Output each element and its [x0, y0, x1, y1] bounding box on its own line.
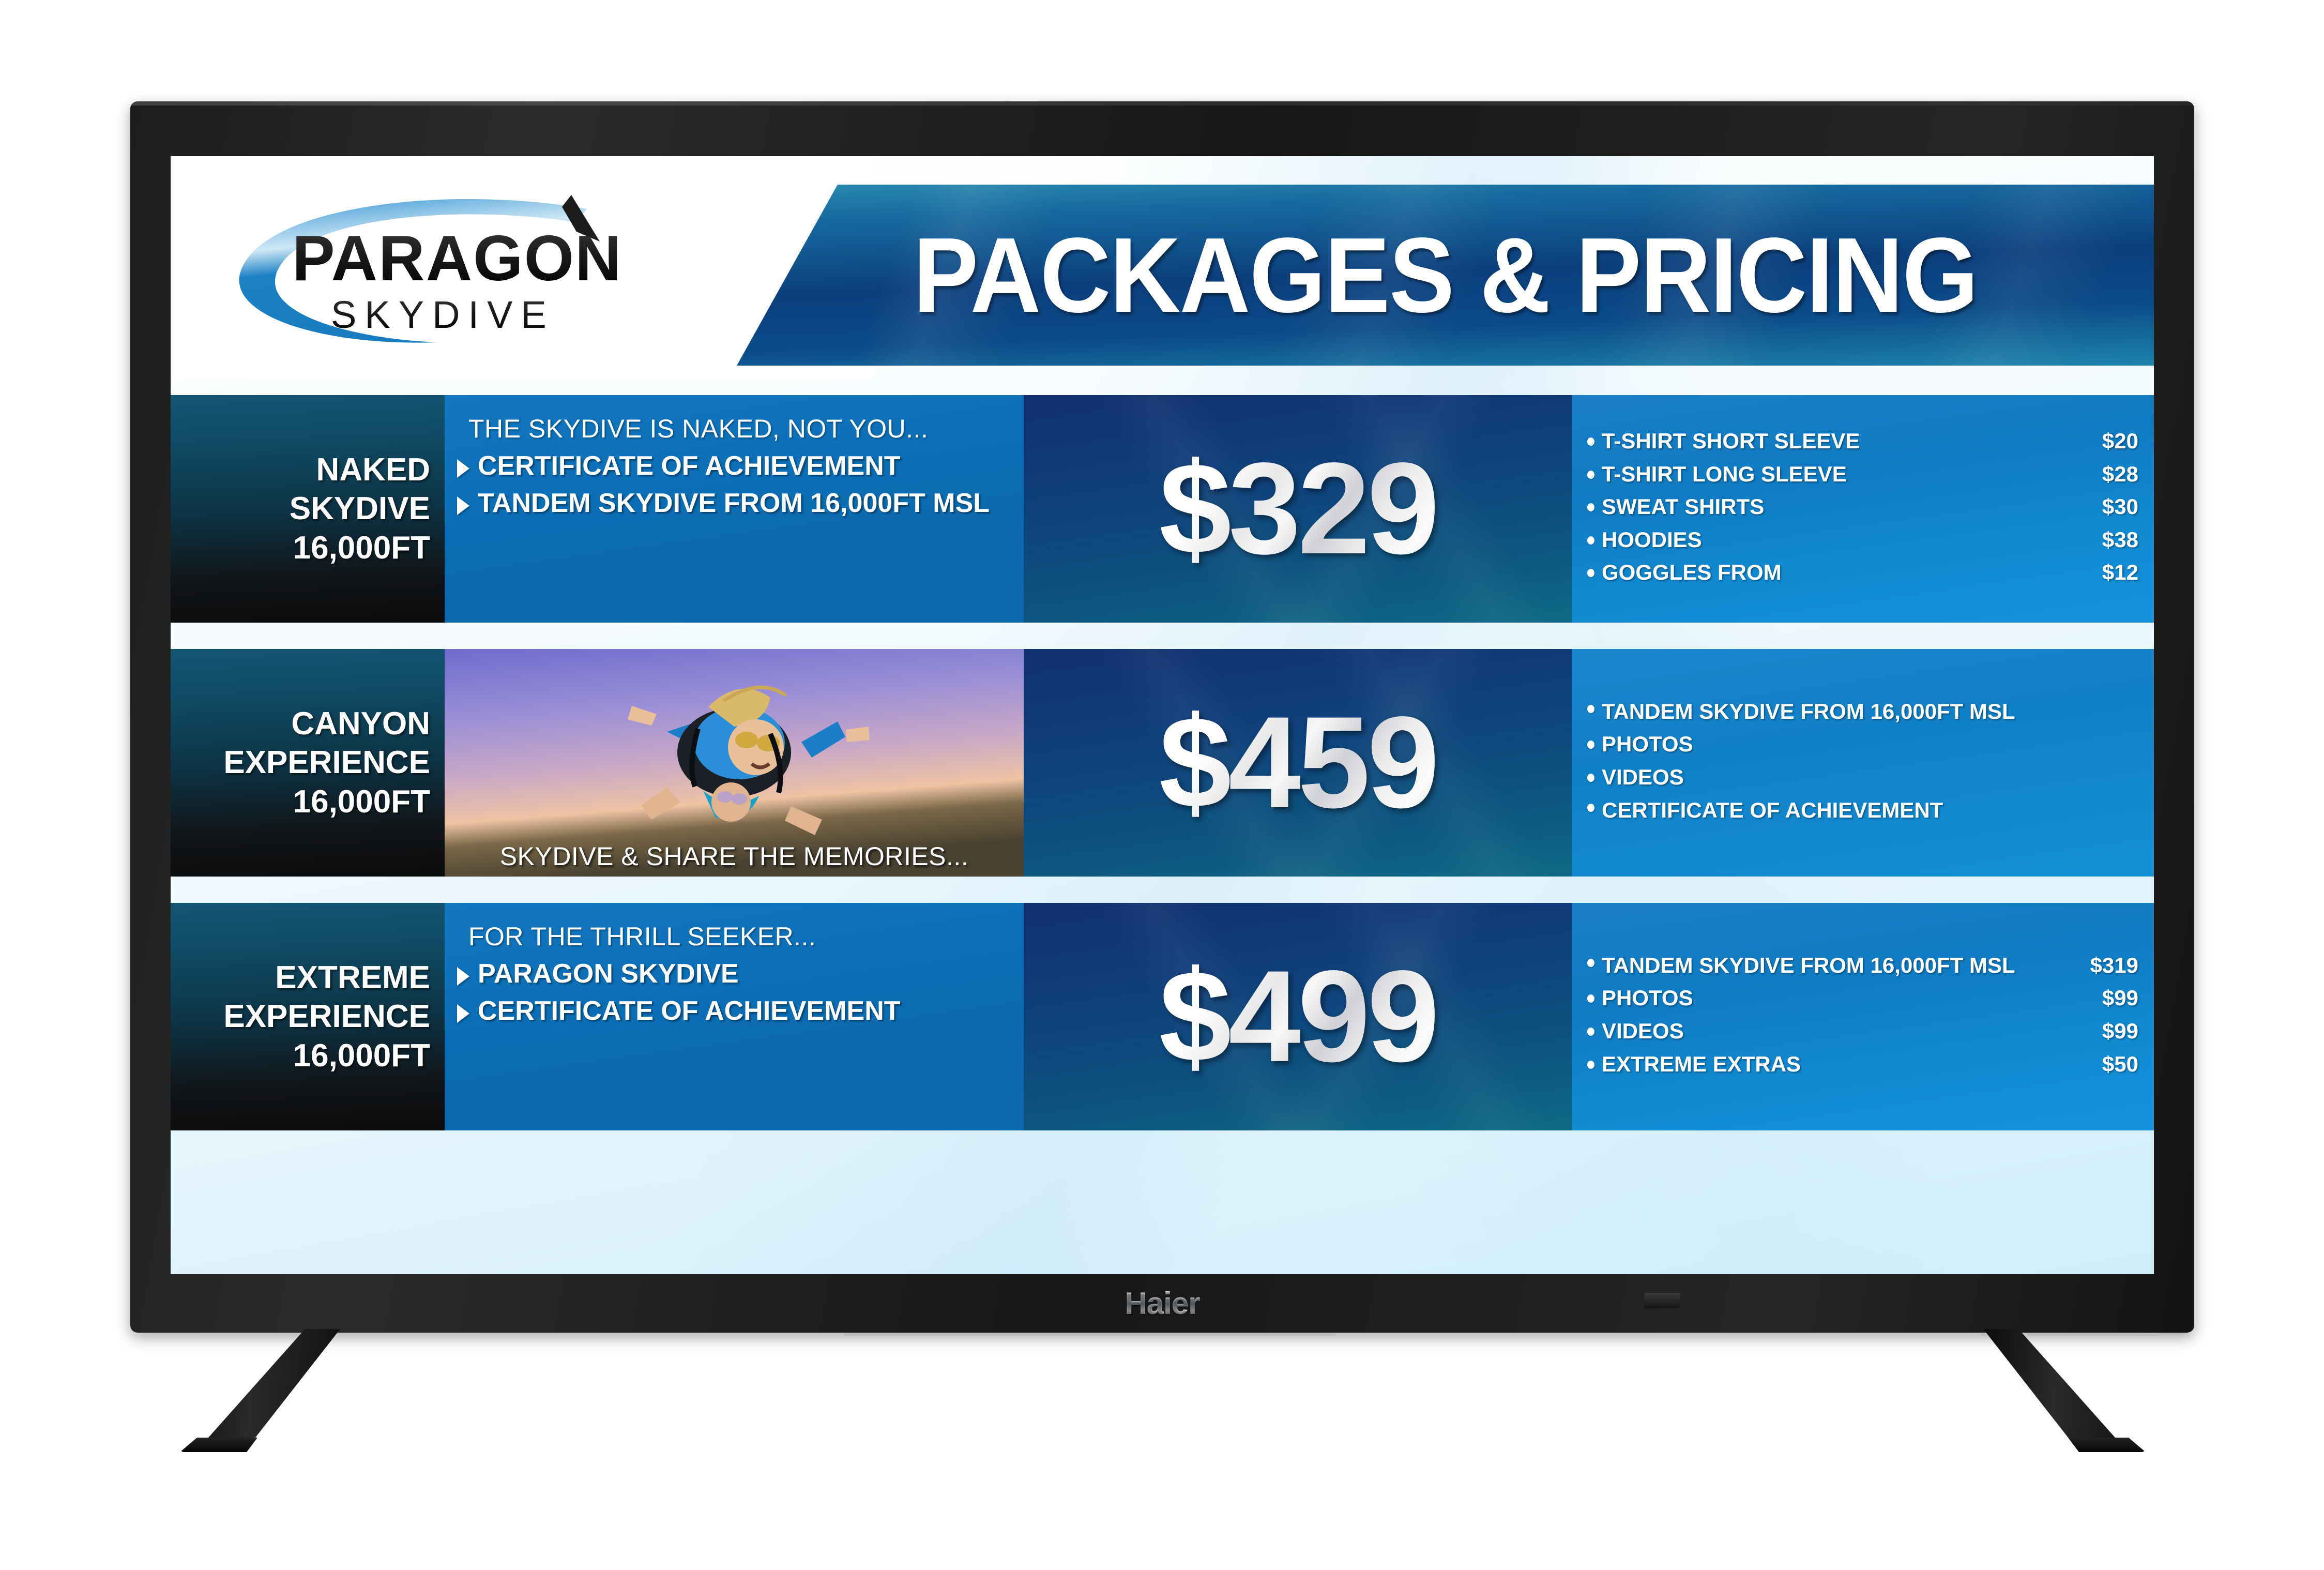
package-name-line: 16,000FT — [293, 1038, 430, 1074]
dot-bullet-icon — [1587, 569, 1594, 577]
paragon-logo-svg: PARAGON SKYDIVE — [215, 182, 742, 353]
feature-label: CERTIFICATE OF ACHIEVEMENT — [478, 996, 901, 1026]
tv-brand-strip: Haier — [171, 1274, 2154, 1332]
addon-label: PHOTOS — [1602, 731, 2129, 757]
package-name-line: 16,000FT — [293, 784, 430, 820]
addon-price: $38 — [2102, 527, 2138, 553]
arrow-bullet-icon — [457, 967, 469, 986]
addon-label: GOGGLES FROM — [1602, 560, 2093, 585]
package-tagline: THE SKYDIVE IS NAKED, NOT YOU... — [468, 414, 1010, 444]
package-name-line: NAKED — [316, 452, 430, 488]
addon-price: $319 — [2090, 953, 2138, 978]
arrow-bullet-icon — [457, 459, 469, 478]
feature-item: PARAGON SKYDIVE — [457, 959, 1010, 989]
ir-sensor — [1644, 1293, 1680, 1308]
package-addons-cell: TANDEM SKYDIVE FROM 16,000FT MSL$319PHOT… — [1572, 903, 2154, 1130]
package-features-cell: FOR THE THRILL SEEKER...PARAGON SKYDIVEC… — [445, 903, 1024, 1130]
addon-item: HOODIES$38 — [1587, 527, 2138, 553]
photo-caption: SKYDIVE & SHARE THE MEMORIES... — [445, 841, 1024, 871]
addon-price: $99 — [2102, 985, 2138, 1011]
feature-list: CERTIFICATE OF ACHIEVEMENTTANDEM SKYDIVE… — [457, 451, 1010, 518]
dot-bullet-icon — [1587, 1061, 1594, 1069]
feature-item: TANDEM SKYDIVE FROM 16,000FT MSL — [457, 488, 1010, 518]
addon-label: T-SHIRT LONG SLEEVE — [1602, 461, 2093, 487]
addon-item: T-SHIRT LONG SLEEVE$28 — [1587, 461, 2138, 487]
addon-item: TANDEM SKYDIVE FROM 16,000FT MSL$319 — [1587, 953, 2138, 978]
package-name-line: SKYDIVE — [290, 491, 430, 526]
page-header: PARAGON SKYDIVE PACKAGES & PRICING — [171, 156, 2154, 379]
package-tagline: FOR THE THRILL SEEKER... — [468, 922, 1010, 952]
package-price-cell: $459 — [1024, 649, 1572, 877]
addon-item: TANDEM SKYDIVE FROM 16,000FT MSL — [1587, 699, 2138, 724]
package-price: $459 — [1159, 698, 1437, 828]
dot-bullet-icon — [1587, 774, 1594, 782]
package-features-cell: THE SKYDIVE IS NAKED, NOT YOU...CERTIFIC… — [445, 395, 1024, 623]
addon-label: PHOTOS — [1602, 985, 2093, 1011]
page-title: PACKAGES & PRICING — [794, 185, 2098, 366]
feature-item: CERTIFICATE OF ACHIEVEMENT — [457, 996, 1010, 1026]
dot-bullet-icon — [1587, 705, 1594, 713]
package-price-cell: $499 — [1024, 903, 1572, 1130]
feature-label: PARAGON SKYDIVE — [478, 959, 739, 989]
package-name-cell: CANYONEXPERIENCE16,000FT — [171, 649, 445, 877]
addon-label: VIDEOS — [1602, 1018, 2093, 1044]
dot-bullet-icon — [1587, 536, 1594, 545]
addon-price: $20 — [2102, 428, 2138, 454]
addon-item: PHOTOS — [1587, 731, 2138, 757]
addon-label: CERTIFICATE OF ACHIEVEMENT — [1602, 797, 2129, 823]
addon-label: TANDEM SKYDIVE FROM 16,000FT MSL — [1602, 953, 2081, 978]
package-row: NAKEDSKYDIVE16,000FTTHE SKYDIVE IS NAKED… — [171, 395, 2154, 623]
package-addons-cell: TANDEM SKYDIVE FROM 16,000FT MSLPHOTOSVI… — [1572, 649, 2154, 877]
feature-list: PARAGON SKYDIVECERTIFICATE OF ACHIEVEMEN… — [457, 959, 1010, 1026]
package-name-line: EXTREME — [275, 960, 430, 995]
dot-bullet-icon — [1587, 959, 1594, 967]
tv-screen: PARAGON SKYDIVE PACKAGES & PRICING NAKED… — [171, 156, 2154, 1274]
package-price: $329 — [1159, 444, 1437, 574]
addon-item: GOGGLES FROM$12 — [1587, 560, 2138, 585]
package-row: EXTREMEEXPERIENCE16,000FTFOR THE THRILL … — [171, 903, 2154, 1130]
header-banner: PACKAGES & PRICING — [737, 185, 2154, 366]
addon-price: $30 — [2102, 494, 2138, 520]
dot-bullet-icon — [1587, 994, 1594, 1003]
addon-item: CERTIFICATE OF ACHIEVEMENT — [1587, 797, 2138, 823]
dot-bullet-icon — [1587, 503, 1594, 511]
addon-item: EXTREME EXTRAS$50 — [1587, 1051, 2138, 1077]
haier-logo: Haier — [1125, 1286, 1199, 1321]
addon-label: VIDEOS — [1602, 764, 2129, 790]
addon-price: $28 — [2102, 461, 2138, 487]
package-name-line: CANYON — [291, 706, 430, 742]
svg-text:PARAGON: PARAGON — [292, 223, 622, 294]
addon-label: SWEAT SHIRTS — [1602, 494, 2093, 520]
dot-bullet-icon — [1587, 471, 1594, 479]
addon-item: VIDEOS$99 — [1587, 1018, 2138, 1044]
dot-bullet-icon — [1587, 1028, 1594, 1036]
package-name-cell: EXTREMEEXPERIENCE16,000FT — [171, 903, 445, 1130]
feature-label: CERTIFICATE OF ACHIEVEMENT — [478, 451, 901, 481]
package-name-line: EXPERIENCE — [223, 999, 430, 1034]
addon-item: VIDEOS — [1587, 764, 2138, 790]
svg-text:SKYDIVE: SKYDIVE — [331, 293, 555, 336]
package-name-cell: NAKEDSKYDIVE16,000FT — [171, 395, 445, 623]
arrow-bullet-icon — [457, 1004, 469, 1023]
tv-stand-foot-left — [180, 1438, 257, 1452]
package-price: $499 — [1159, 952, 1437, 1082]
addon-price: $99 — [2102, 1018, 2138, 1044]
package-photo-cell: SKYDIVE & SHARE THE MEMORIES... — [445, 649, 1024, 877]
arrow-bullet-icon — [457, 496, 469, 515]
paragon-skydive-logo: PARAGON SKYDIVE — [194, 177, 763, 358]
addon-label: T-SHIRT SHORT SLEEVE — [1602, 428, 2093, 454]
tv-stand-leg-right — [1983, 1329, 2144, 1448]
package-addons-cell: T-SHIRT SHORT SLEEVE$20T-SHIRT LONG SLEE… — [1572, 395, 2154, 623]
addon-item: PHOTOS$99 — [1587, 985, 2138, 1011]
dot-bullet-icon — [1587, 437, 1594, 446]
package-price-cell: $329 — [1024, 395, 1572, 623]
addon-list: TANDEM SKYDIVE FROM 16,000FT MSLPHOTOSVI… — [1587, 699, 2138, 830]
tv-stand-leg-left — [180, 1329, 340, 1448]
package-name-line: EXPERIENCE — [223, 745, 430, 780]
package-row: CANYONEXPERIENCE16,000FTSKYDIVE & SHARE … — [171, 649, 2154, 877]
addon-label: EXTREME EXTRAS — [1602, 1051, 2093, 1077]
package-name-line: 16,000FT — [293, 530, 430, 566]
tv-stand-foot-right — [2068, 1438, 2146, 1452]
feature-label: TANDEM SKYDIVE FROM 16,000FT MSL — [478, 488, 990, 518]
addon-label: HOODIES — [1602, 527, 2093, 553]
addon-list: TANDEM SKYDIVE FROM 16,000FT MSL$319PHOT… — [1587, 953, 2138, 1084]
addon-price: $12 — [2102, 560, 2138, 585]
addon-item: SWEAT SHIRTS$30 — [1587, 494, 2138, 520]
television: PARAGON SKYDIVE PACKAGES & PRICING NAKED… — [0, 0, 2324, 1570]
dot-bullet-icon — [1587, 804, 1594, 812]
feature-item: CERTIFICATE OF ACHIEVEMENT — [457, 451, 1010, 481]
dot-bullet-icon — [1587, 741, 1594, 749]
addon-list: T-SHIRT SHORT SLEEVE$20T-SHIRT LONG SLEE… — [1587, 428, 2138, 593]
addon-price: $50 — [2102, 1051, 2138, 1077]
addon-label: TANDEM SKYDIVE FROM 16,000FT MSL — [1602, 699, 2129, 724]
addon-item: T-SHIRT SHORT SLEEVE$20 — [1587, 428, 2138, 454]
